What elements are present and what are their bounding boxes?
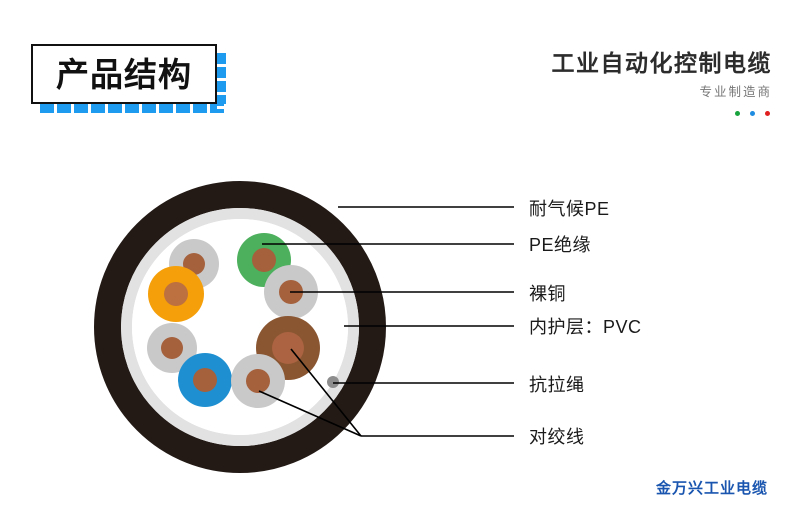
cable-layers-group: [108, 195, 373, 460]
footer-brand: 金万兴工业电缆: [656, 477, 768, 498]
conductor-orange-copper-core: [164, 282, 188, 306]
conductor-blue: [178, 353, 232, 407]
callout-pe-insulation-label: PE绝缘: [529, 236, 591, 254]
conductor-orange: [148, 266, 204, 322]
callout-ripcord-label: 抗拉绳: [529, 376, 585, 394]
conductor-green-copper-core: [252, 248, 276, 272]
poster-root: 产品结构 工业自动化控制电缆 专业制造商 耐气候PEPE绝缘裸铜内护层：PVC抗…: [0, 0, 790, 512]
conductor-gray-bottom-copper-core: [246, 369, 270, 393]
ripcord: [327, 376, 339, 388]
callout-twisted-pair-label: 对绞线: [529, 428, 585, 446]
callout-inner-sheath-label: 内护层：PVC: [529, 318, 642, 336]
ripcord-group: [327, 376, 339, 388]
callout-bare-copper-label: 裸铜: [529, 285, 566, 303]
conductor-gray-bottom: [231, 354, 285, 408]
cable-cross-section-diagram: [0, 0, 790, 512]
callout-weatherproof-pe-label: 耐气候PE: [529, 200, 610, 218]
conductor-gray-bottom-left-copper-core: [161, 337, 183, 359]
conductor-blue-copper-core: [193, 368, 217, 392]
